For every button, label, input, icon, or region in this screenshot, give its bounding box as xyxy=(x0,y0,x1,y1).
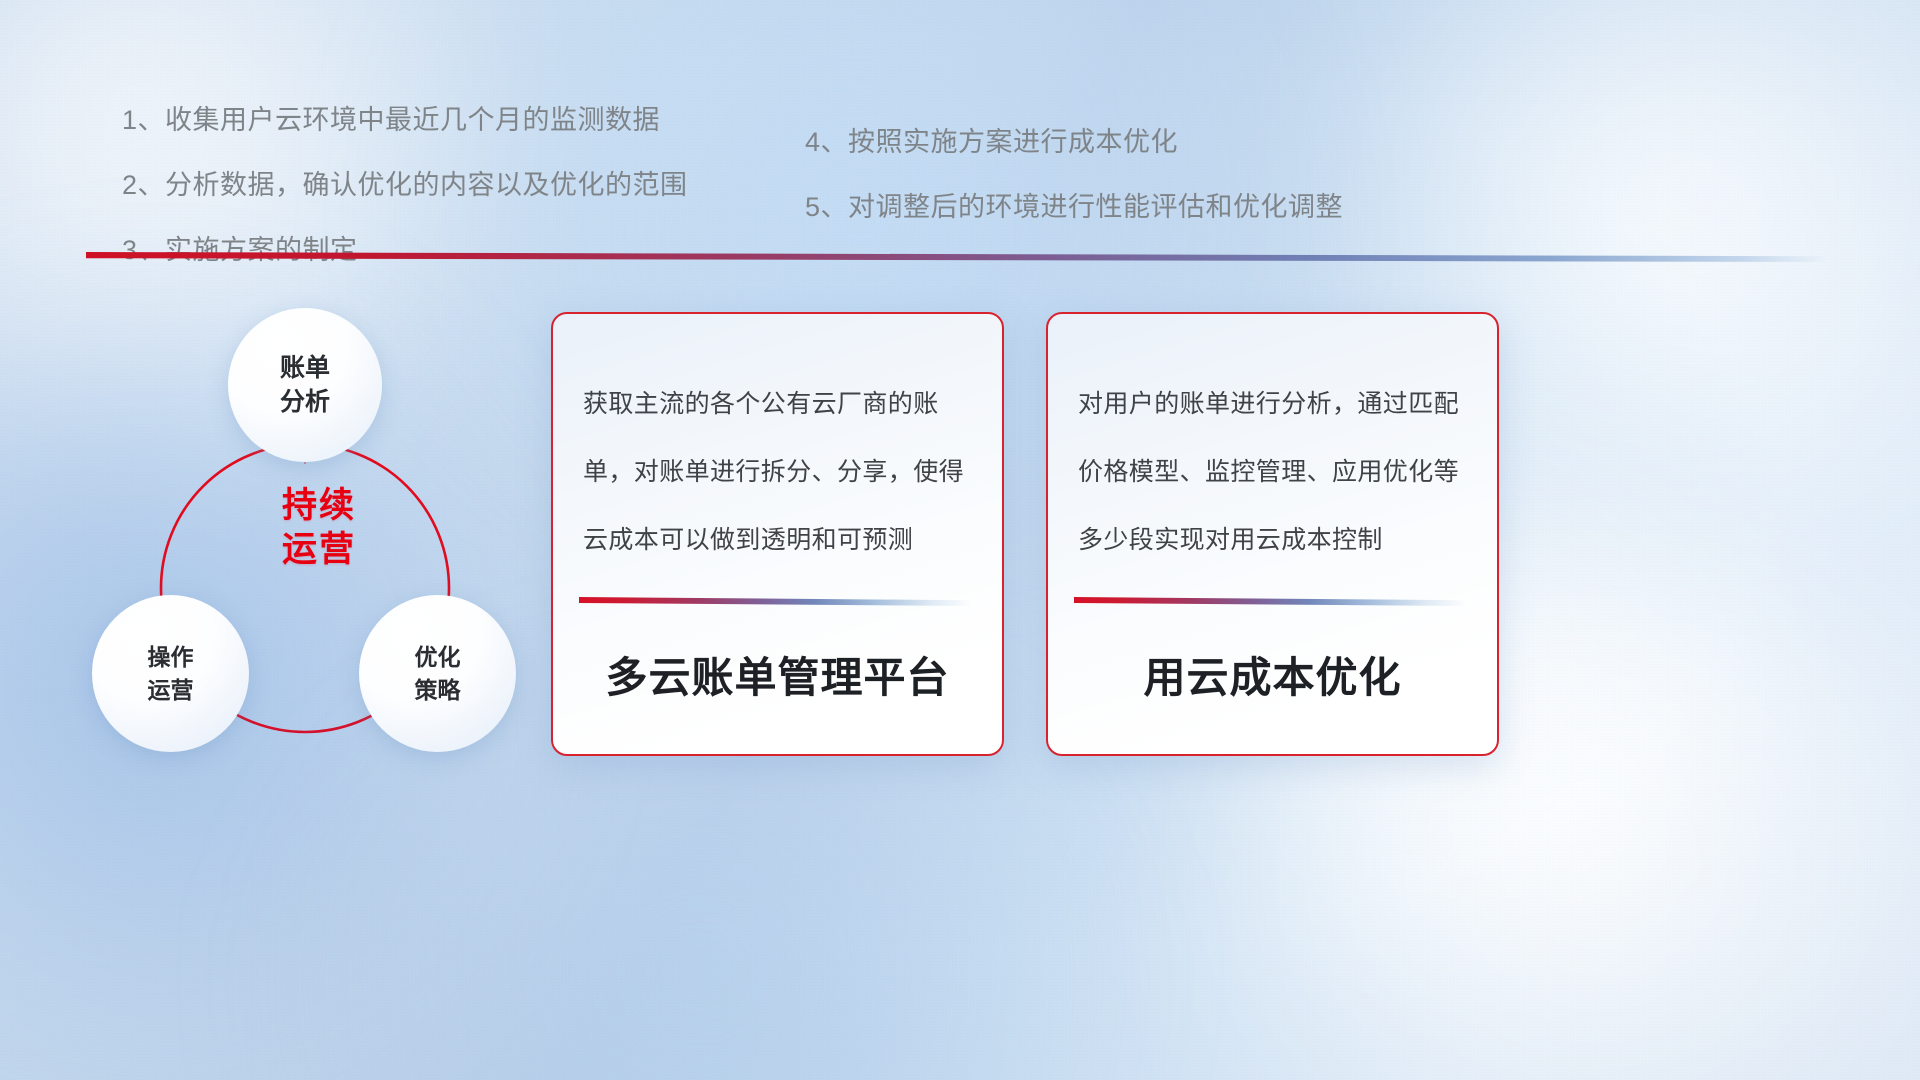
venn-node-optimization-strategy-line2: 策略 xyxy=(415,677,461,703)
card-1-divider xyxy=(579,597,971,606)
step-item-3: 3、实施方案的制定 xyxy=(122,226,688,274)
venn-node-bill-analysis-label: 账单 分析 xyxy=(280,351,330,419)
steps-right-column: 4、按照实施方案进行成本优化 5、对调整后的环境进行性能评估和优化调整 xyxy=(805,118,1343,248)
venn-center-label-line2: 运营 xyxy=(282,530,356,569)
venn-node-bill-analysis-line1: 账单 xyxy=(280,354,330,382)
step-item-4: 4、按照实施方案进行成本优化 xyxy=(805,118,1343,166)
step-item-5: 5、对调整后的环境进行性能评估和优化调整 xyxy=(805,183,1343,231)
step-item-2: 2、分析数据，确认优化的内容以及优化的范围 xyxy=(122,161,688,209)
card-1-body-text: 获取主流的各个公有云厂商的账单，对账单进行拆分、分享，使得云成本可以做到透明和可… xyxy=(583,370,976,574)
card-2-body-text: 对用户的账单进行分析，通过匹配价格模型、监控管理、应用优化等多少段实现对用云成本… xyxy=(1078,370,1471,574)
continuous-operation-diagram: 账单 分析 操作 运营 优化 策略 持续 运营 xyxy=(84,288,554,778)
venn-node-operation-line2: 运营 xyxy=(148,677,194,703)
venn-node-bill-analysis-line2: 分析 xyxy=(280,388,330,416)
card-multi-cloud-bill-platform[interactable]: 获取主流的各个公有云厂商的账单，对账单进行拆分、分享，使得云成本可以做到透明和可… xyxy=(551,312,1004,756)
venn-node-operation-line1: 操作 xyxy=(148,644,194,670)
card-2-divider xyxy=(1074,597,1466,606)
section-divider xyxy=(86,252,1828,262)
venn-node-optimization-strategy-line1: 优化 xyxy=(415,644,461,670)
venn-center-label: 持续 运营 xyxy=(84,484,554,572)
venn-node-operation[interactable]: 操作 运营 xyxy=(92,595,249,752)
section-divider-bar xyxy=(86,252,1828,262)
venn-center-label-line1: 持续 xyxy=(282,486,356,525)
venn-node-optimization-strategy[interactable]: 优化 策略 xyxy=(359,595,516,752)
card-2-title: 用云成本优化 xyxy=(1048,644,1497,705)
step-item-1: 1、收集用户云环境中最近几个月的监测数据 xyxy=(122,96,688,144)
card-1-title: 多云账单管理平台 xyxy=(553,644,1002,705)
venn-node-bill-analysis[interactable]: 账单 分析 xyxy=(228,308,382,462)
venn-node-optimization-strategy-label: 优化 策略 xyxy=(415,641,461,707)
card-cloud-cost-optimization[interactable]: 对用户的账单进行分析，通过匹配价格模型、监控管理、应用优化等多少段实现对用云成本… xyxy=(1046,312,1499,756)
venn-node-operation-label: 操作 运营 xyxy=(148,641,194,707)
